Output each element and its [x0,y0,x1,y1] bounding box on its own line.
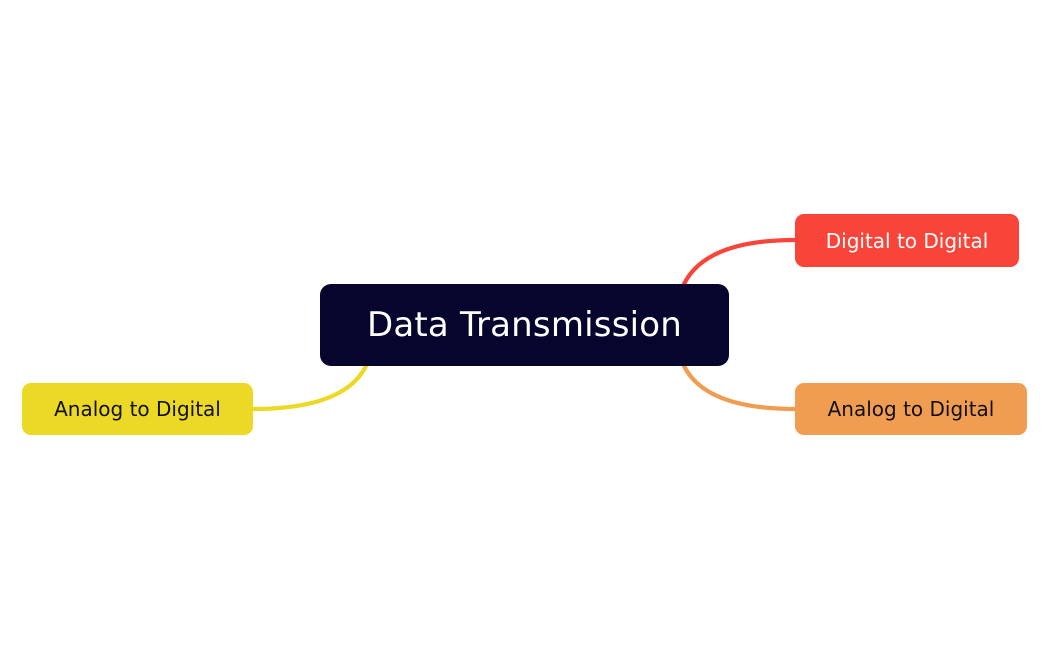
edge-root-to-analog-to-digital-right [684,366,795,409]
mindmap-node-digital-to-digital[interactable]: Digital to Digital [795,214,1019,267]
mindmap-node-analog-to-digital-right[interactable]: Analog to Digital [795,383,1027,435]
mindmap-root-node[interactable]: Data Transmission [320,284,729,366]
mindmap-node-label-analog-to-digital-right: Analog to Digital [828,399,995,419]
mindmap-root-label: Data Transmission [367,308,682,342]
edge-root-to-analog-to-digital-left [253,366,366,409]
edge-root-to-digital-to-digital [684,240,795,284]
mindmap-node-analog-to-digital-left[interactable]: Analog to Digital [22,383,253,435]
mindmap-canvas: Data Transmission Digital to Digital Ana… [0,0,1049,650]
mindmap-node-label-analog-to-digital-left: Analog to Digital [54,399,221,419]
mindmap-node-label-digital-to-digital: Digital to Digital [826,231,989,251]
